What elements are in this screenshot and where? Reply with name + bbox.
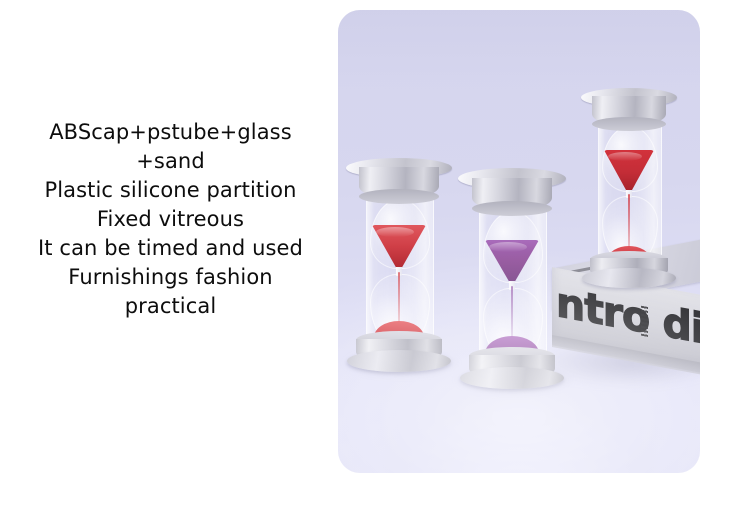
spec-line-4: Fixed vitreous — [8, 205, 333, 234]
base-plate — [347, 350, 451, 372]
base-plate — [582, 268, 676, 288]
spec-line-1: ABScap+pstube+glass — [8, 118, 333, 147]
sand-cone-top-highlight — [608, 152, 642, 161]
spec-line-6: Furnishings fashion — [8, 263, 333, 292]
spec-line-3: Plastic silicone partition — [8, 176, 333, 205]
book-spine-microtext — [641, 306, 648, 337]
sand-cone-top-highlight — [489, 242, 527, 252]
hourglass-middle-purple — [458, 168, 566, 390]
spec-line-5: It can be timed and used — [8, 234, 333, 263]
hourglass-right-red — [581, 88, 677, 288]
hourglass-left-red — [346, 158, 452, 373]
cap-lower-rim — [359, 189, 439, 204]
product-detail-page: ABScap+pstube+glass +sand Plastic silico… — [0, 0, 750, 511]
product-photo: ntro di te — [338, 10, 700, 473]
cap-lower-rim — [472, 201, 552, 216]
sand-cone-top-highlight — [376, 227, 414, 237]
base-plate — [460, 367, 564, 389]
spec-line-2: +sand — [8, 147, 333, 176]
cap-lower-rim — [592, 117, 666, 131]
product-spec-text: ABScap+pstube+glass +sand Plastic silico… — [8, 118, 333, 321]
sand-stream — [511, 286, 513, 342]
spec-line-7: practical — [8, 292, 333, 321]
